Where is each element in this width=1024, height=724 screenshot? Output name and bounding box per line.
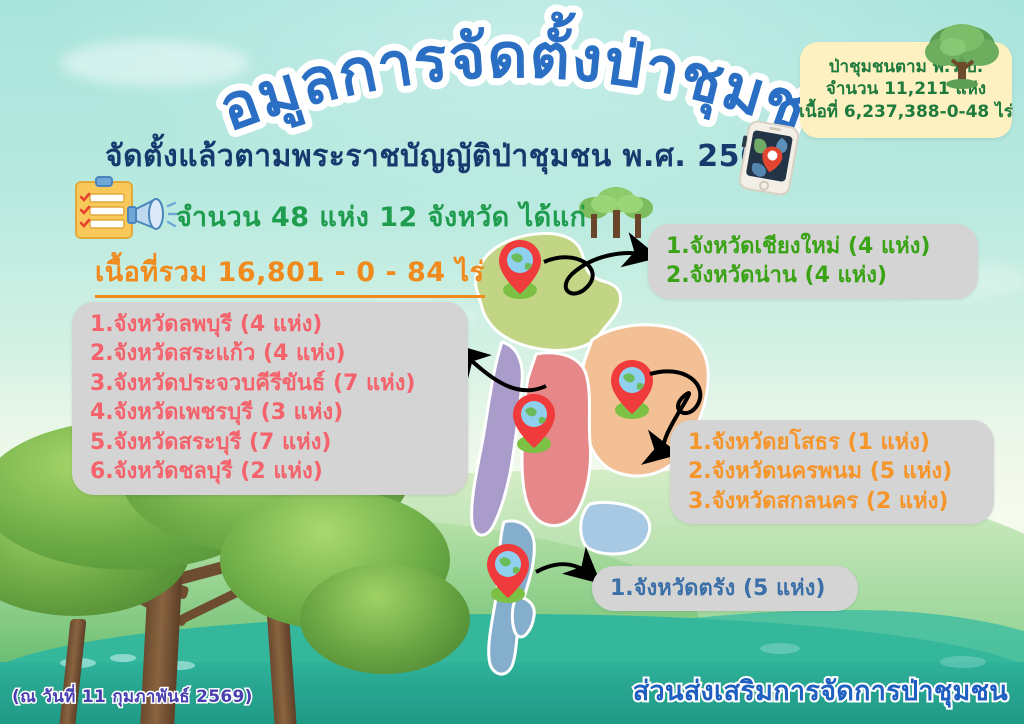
- water-dapple: [940, 656, 986, 668]
- list-item: 2.จังหวัดนครพนม (5 แห่ง): [688, 457, 976, 486]
- province-list-north: 1.จังหวัดเชียงใหม่ (4 แห่ง) 2.จังหวัดน่า…: [648, 224, 978, 299]
- clipboard-megaphone-icon: [72, 176, 184, 242]
- list-item: 1.จังหวัดตรัง (5 แห่ง): [610, 574, 840, 603]
- water-dapple: [760, 643, 800, 654]
- footer-organization: ส่วนส่งเสริมการจัดการป่าชุมชน: [633, 669, 1008, 712]
- list-item: 1.จังหวัดลพบุรี (4 แห่ง): [90, 310, 450, 339]
- trees-icon: [578, 182, 654, 246]
- map-marker-central: [506, 390, 562, 454]
- list-item: 5.จังหวัดสระบุรี (7 แห่ง): [90, 428, 450, 457]
- footer-date: (ณ วันที่ 11 กุมภาพันธ์ 2569): [12, 683, 253, 710]
- list-item: 2.จังหวัดน่าน (4 แห่ง): [666, 261, 960, 290]
- map-marker-north: [492, 236, 548, 300]
- list-item: 3.จังหวัดสกลนคร (2 แห่ง): [688, 487, 976, 516]
- total-area-text: เนื้อที่รวม 16,801 - 0 - 84 ไร่: [95, 250, 485, 298]
- phone-map-icon: [732, 117, 806, 199]
- list-item: 6.จังหวัดชลบุรี (2 แห่ง): [90, 457, 450, 486]
- map-marker-south: [480, 540, 536, 604]
- infographic-poster: ข้อมูลการจัดตั้งป่าชุมชน ข้อมูลการจัดตั้…: [0, 0, 1024, 724]
- list-item: 2.จังหวัดสระแก้ว (4 แห่ง): [90, 339, 450, 368]
- act-summary-box: ป่าชุมชนตาม พ.ร.บ. จำนวน 11,211 แห่ง เนื…: [800, 42, 1012, 138]
- established-count-text: จำนวน 48 แห่ง 12 จังหวัด ได้แก่: [176, 195, 586, 238]
- map-region-east: [581, 502, 650, 554]
- province-list-central: 1.จังหวัดลพบุรี (4 แห่ง) 2.จังหวัดสระแก้…: [72, 302, 468, 495]
- tree-icon: [922, 20, 1002, 92]
- map-marker-northeast: [604, 356, 660, 420]
- list-item: 1.จังหวัดเชียงใหม่ (4 แห่ง): [666, 232, 960, 261]
- province-list-south: 1.จังหวัดตรัง (5 แห่ง): [592, 566, 858, 611]
- page-title: ข้อมูลการจัดตั้งป่าชุมชน ข้อมูลการจัดตั้…: [214, 32, 814, 140]
- act-summary-line-3: เนื้อที่ 6,237,388-0-48 ไร่: [799, 102, 1013, 123]
- province-list-northeast: 1.จังหวัดยโสธร (1 แห่ง) 2.จังหวัดนครพนม …: [670, 420, 994, 524]
- list-item: 4.จังหวัดเพชรบุรี (3 แห่ง): [90, 398, 450, 427]
- list-item: 3.จังหวัดประจวบคีรีขันธ์ (7 แห่ง): [90, 369, 450, 398]
- list-item: 1.จังหวัดยโสธร (1 แห่ง): [688, 428, 976, 457]
- page-subtitle: จัดตั้งแล้วตามพระราชบัญญัติป่าชุมชน พ.ศ.…: [105, 133, 765, 180]
